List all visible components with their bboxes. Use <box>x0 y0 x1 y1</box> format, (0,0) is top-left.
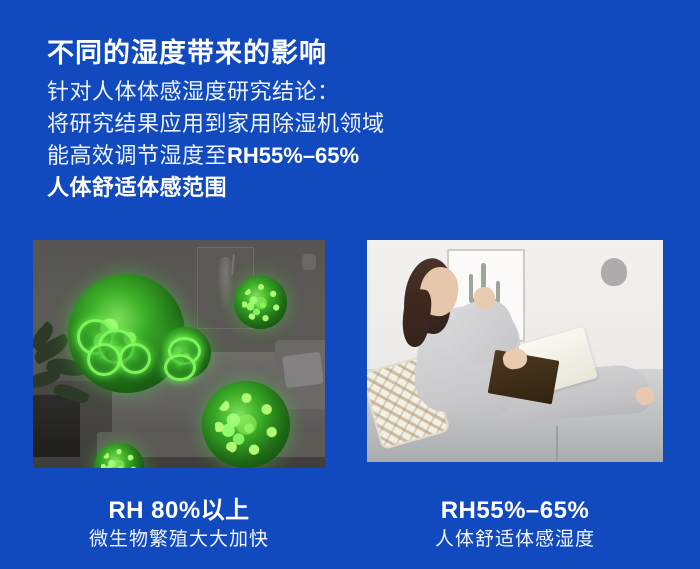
caption-high-humidity: RH 80%以上 微生物繁殖大大加快 <box>33 496 325 554</box>
cactus-arm-right <box>496 281 500 302</box>
wall-speaker <box>302 254 316 270</box>
wall-speaker <box>601 258 627 286</box>
intro-line-4: 人体舒适体感范围 <box>47 172 385 204</box>
wall-art-branch <box>232 254 235 275</box>
sofa-cushion <box>282 352 324 388</box>
germ-partial-right <box>159 327 212 379</box>
page-title: 不同的湿度带来的影响 <box>47 36 327 70</box>
germ-ring <box>164 354 196 381</box>
intro-line-2: 将研究结果应用到家用除湿机领域 <box>47 108 385 140</box>
intro-line-3: 能高效调节湿度至RH55%–65% <box>47 140 385 172</box>
plant-pot <box>33 395 80 457</box>
caption-high-humidity-head: RH 80%以上 <box>33 496 325 526</box>
germ-ring <box>87 343 121 376</box>
caption-comfort-humidity: RH55%–65% 人体舒适体感湿度 <box>367 496 663 554</box>
intro-paragraph: 针对人体体感湿度研究结论： 将研究结果应用到家用除湿机领域 能高效调节湿度至RH… <box>47 76 385 204</box>
germ-small-top <box>234 276 287 328</box>
intro-line-3-prefix: 能高效调节湿度至 <box>47 143 227 168</box>
caption-comfort-humidity-head: RH55%–65% <box>367 496 663 526</box>
germ-ring <box>119 343 151 374</box>
caption-high-humidity-sub: 微生物繁殖大大加快 <box>33 526 325 554</box>
photo-comfort-humidity-scene <box>367 240 663 462</box>
humidity-comparison-poster: 不同的湿度带来的影响 针对人体体感湿度研究结论： 将研究结果应用到家用除湿机领域… <box>0 0 700 569</box>
intro-line-1: 针对人体体感湿度研究结论： <box>47 76 385 108</box>
photo-high-humidity-scene <box>33 240 325 468</box>
humidity-range-highlight: RH55%–65% <box>227 143 359 168</box>
photo-high-humidity <box>33 240 325 468</box>
cactus-arm-left <box>469 274 473 301</box>
sofa-seam <box>556 426 558 462</box>
caption-comfort-humidity-sub: 人体舒适体感湿度 <box>367 526 663 554</box>
photo-comfort-humidity <box>367 240 663 462</box>
germ-bottom-large <box>202 381 290 468</box>
